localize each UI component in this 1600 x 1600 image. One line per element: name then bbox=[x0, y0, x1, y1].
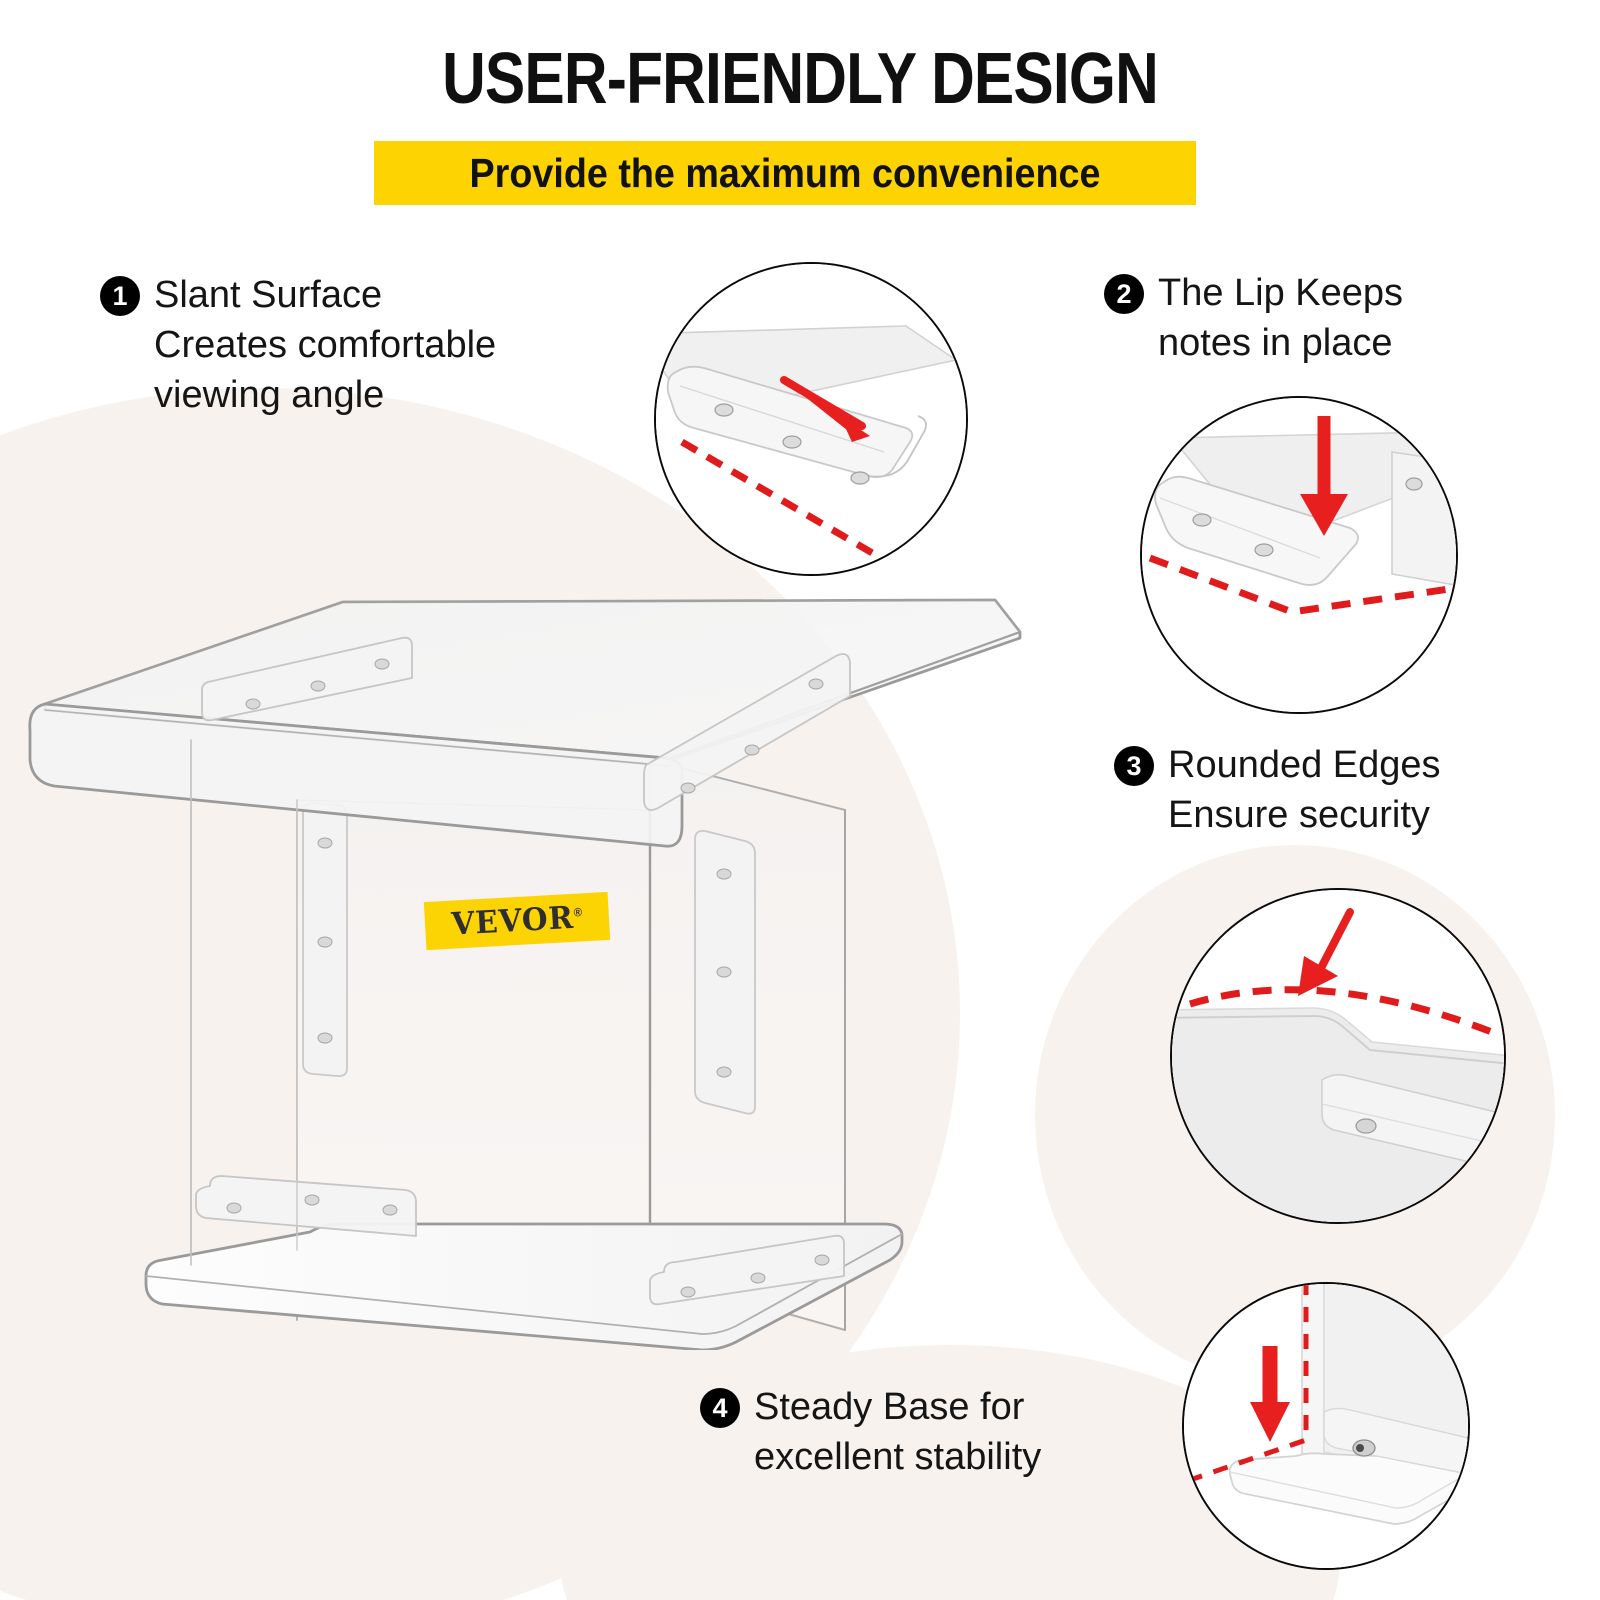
callout-2-number-badge: 2 bbox=[1104, 274, 1144, 314]
callout-4-number-badge: 4 bbox=[700, 1388, 740, 1428]
callout-3-number-badge: 3 bbox=[1114, 746, 1154, 786]
screw-icon bbox=[1356, 1119, 1376, 1133]
detail-circle-slant-surface bbox=[654, 262, 968, 576]
infographic-page: USER-FRIENDLY DESIGN Provide the maximum… bbox=[0, 0, 1600, 1600]
subtitle-text: Provide the maximum convenience bbox=[407, 141, 1163, 205]
callout-1-label: Slant Surface Creates comfortable viewin… bbox=[154, 270, 496, 420]
callout-3: 3 Rounded Edges Ensure security bbox=[1114, 740, 1441, 840]
vevor-logo: VEVOR® bbox=[424, 892, 610, 950]
callout-3-label: Rounded Edges Ensure security bbox=[1168, 740, 1441, 840]
callout-4: 4 Steady Base for excellent stability bbox=[700, 1382, 1041, 1482]
callout-2-label: The Lip Keeps notes in place bbox=[1158, 268, 1403, 368]
callout-1-number-badge: 1 bbox=[100, 276, 140, 316]
registered-trademark-icon: ® bbox=[573, 905, 583, 920]
callout-4-label: Steady Base for excellent stability bbox=[754, 1382, 1041, 1482]
vevor-wordmark: VEVOR® bbox=[450, 899, 584, 942]
callout-2: 2 The Lip Keeps notes in place bbox=[1104, 268, 1403, 368]
callout-1: 1 Slant Surface Creates comfortable view… bbox=[100, 270, 496, 420]
detail-circle-steady-base bbox=[1182, 1282, 1470, 1570]
product-illustration bbox=[10, 560, 1050, 1350]
detail-circle-lip-keeps-notes bbox=[1140, 396, 1458, 714]
subtitle-banner: Provide the maximum convenience bbox=[374, 141, 1196, 205]
screw-icon bbox=[1353, 1440, 1375, 1456]
page-title: USER-FRIENDLY DESIGN bbox=[128, 38, 1472, 120]
detail-circle-rounded-edges bbox=[1170, 888, 1506, 1224]
